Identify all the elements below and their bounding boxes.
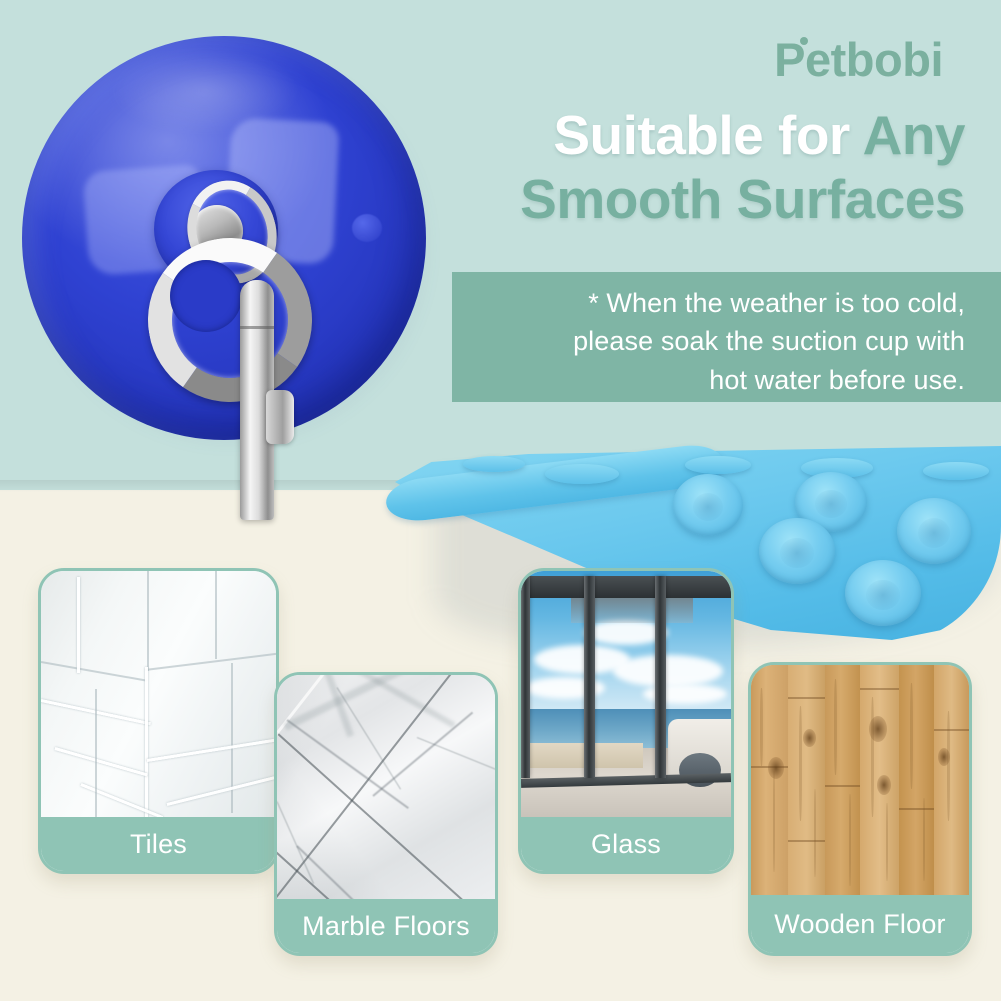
care-note-line-2: please soak the suction cup with <box>475 322 965 360</box>
wood-grain <box>799 706 802 821</box>
mat-suction-cup <box>759 518 835 584</box>
door-mullion <box>655 576 666 778</box>
surface-card-label-marble: Marble Floors <box>277 899 495 953</box>
tile-grout <box>95 689 97 817</box>
surface-card-glass[interactable]: Glass <box>518 568 734 874</box>
glass-image <box>521 571 731 817</box>
product-infographic: Petbobi Suitable for Any Smooth Surfaces… <box>0 0 1001 1001</box>
headline-any: Any <box>863 104 965 166</box>
surface-card-label-glass: Glass <box>521 817 731 871</box>
blue-suction-cup-photo <box>14 22 442 450</box>
wood-plank <box>825 665 861 895</box>
marble-art <box>277 675 495 899</box>
care-note-line-1: * When the weather is too cold, <box>475 284 965 322</box>
wood-grain <box>910 683 913 789</box>
care-note: * When the weather is too cold, please s… <box>475 284 965 399</box>
wood-plank <box>899 665 935 895</box>
wood-art <box>751 665 969 895</box>
wood-seam <box>825 785 860 787</box>
wood-grain <box>834 679 837 776</box>
mat-suction-cup <box>845 560 921 626</box>
mat-suction-cup <box>897 498 971 564</box>
tiles-image <box>41 571 276 817</box>
carabiner-clip <box>140 218 320 518</box>
wood-knot <box>869 716 887 742</box>
door-mullion <box>584 576 595 778</box>
tile-grout <box>147 739 276 762</box>
glass-art <box>521 571 731 817</box>
wood-grain <box>849 794 851 886</box>
surface-card-marble[interactable]: Marble Floors <box>274 672 498 956</box>
door-header-beam <box>521 576 731 598</box>
surface-card-label-tiles: Tiles <box>41 817 276 871</box>
wood-plank <box>751 665 789 895</box>
wood-seam <box>788 840 825 842</box>
brand-logo: Petbobi <box>774 36 943 83</box>
terrace <box>521 743 643 768</box>
tile-grout <box>145 667 148 817</box>
tile-grout <box>215 571 217 659</box>
surface-card-label-wood: Wooden Floor <box>751 895 969 953</box>
tile-grout <box>80 783 163 817</box>
marble-vein <box>417 737 495 772</box>
mat-suction-cup <box>673 474 743 536</box>
wood-grain <box>871 697 874 817</box>
carabiner-loop-hole <box>170 260 242 332</box>
wood-image <box>751 665 969 895</box>
wood-seam <box>934 729 969 731</box>
tile-grout <box>167 775 276 805</box>
mat-suction-cup <box>923 462 989 480</box>
wood-grain <box>773 771 775 872</box>
wood-seam <box>899 808 934 810</box>
note-band: * When the weather is too cold, please s… <box>452 272 1001 402</box>
wood-seam <box>860 688 899 690</box>
wood-seam <box>788 697 825 699</box>
wood-grain <box>760 688 763 766</box>
mat-suction-cup <box>685 456 751 474</box>
mat-suction-cup <box>545 464 619 484</box>
marble-vein <box>337 687 401 789</box>
tile-grout <box>41 661 148 682</box>
mat-suction-cup <box>463 456 525 472</box>
tile-grout <box>231 663 233 813</box>
suction-cup-side-nub <box>352 214 382 242</box>
marble-image <box>277 675 495 899</box>
cloud <box>613 655 722 687</box>
surface-card-wood[interactable]: Wooden Floor <box>748 662 972 956</box>
surface-card-tiles[interactable]: Tiles <box>38 568 279 874</box>
carabiner-seam <box>240 326 274 329</box>
door-frame-left <box>521 576 530 778</box>
tile-grout <box>145 653 276 671</box>
tiles-art <box>41 571 276 817</box>
carabiner-gate <box>266 390 294 444</box>
wood-plank <box>934 665 969 895</box>
tile-grout <box>147 571 149 671</box>
marble-grout <box>277 825 493 899</box>
tile-grout <box>55 747 148 776</box>
headline-suitable-for: Suitable for <box>553 104 862 166</box>
wood-plank <box>788 665 826 895</box>
care-note-line-3: hot water before use. <box>475 361 965 399</box>
tile-grout <box>77 577 80 673</box>
